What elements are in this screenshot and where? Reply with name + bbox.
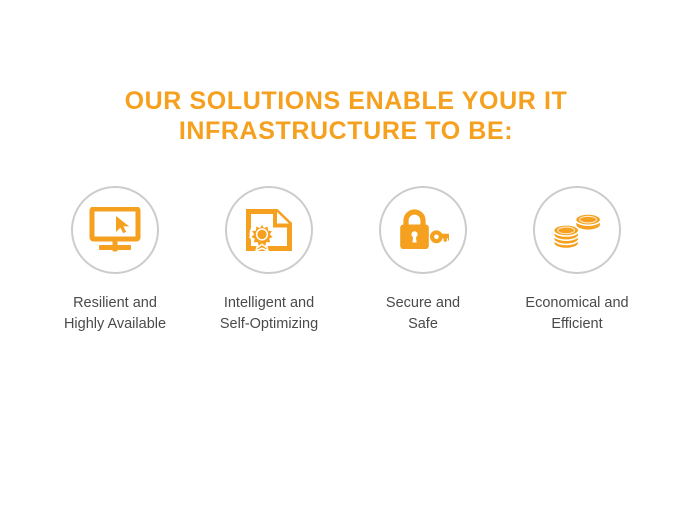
feature-card-intelligent: Intelligent and Self-Optimizing	[192, 186, 346, 335]
icon-circle-intelligent	[225, 186, 313, 274]
monitor-cursor-icon	[89, 207, 141, 253]
feature-card-secure: Secure and Safe	[346, 186, 500, 335]
slide-root: OUR SOLUTIONS ENABLE YOUR IT INFRASTRUCT…	[0, 0, 692, 514]
feature-card-caption: Economical and Efficient	[525, 293, 628, 335]
caption-line-1: Economical and	[525, 293, 628, 314]
icon-circle-resilient	[71, 186, 159, 274]
certificate-document-icon	[244, 207, 294, 253]
feature-card-caption: Secure and Safe	[386, 293, 460, 335]
caption-line-1: Intelligent and	[220, 293, 318, 314]
feature-cards-row: Resilient and Highly Available	[38, 186, 654, 335]
caption-line-1: Resilient and	[64, 293, 166, 314]
caption-line-2: Efficient	[525, 314, 628, 335]
page-title-line-1: OUR SOLUTIONS ENABLE YOUR IT	[0, 86, 692, 116]
caption-line-2: Safe	[386, 314, 460, 335]
caption-line-2: Highly Available	[64, 314, 166, 335]
feature-card-caption: Intelligent and Self-Optimizing	[220, 293, 318, 335]
feature-card-resilient: Resilient and Highly Available	[38, 186, 192, 335]
caption-line-2: Self-Optimizing	[220, 314, 318, 335]
padlock-key-icon	[397, 207, 449, 253]
icon-circle-secure	[379, 186, 467, 274]
feature-card-economical: Economical and Efficient	[500, 186, 654, 335]
caption-line-1: Secure and	[386, 293, 460, 314]
page-title: OUR SOLUTIONS ENABLE YOUR IT INFRASTRUCT…	[0, 86, 692, 146]
coin-stacks-icon	[552, 207, 602, 253]
feature-card-caption: Resilient and Highly Available	[64, 293, 166, 335]
page-title-line-2: INFRASTRUCTURE TO BE:	[0, 116, 692, 146]
icon-circle-economical	[533, 186, 621, 274]
